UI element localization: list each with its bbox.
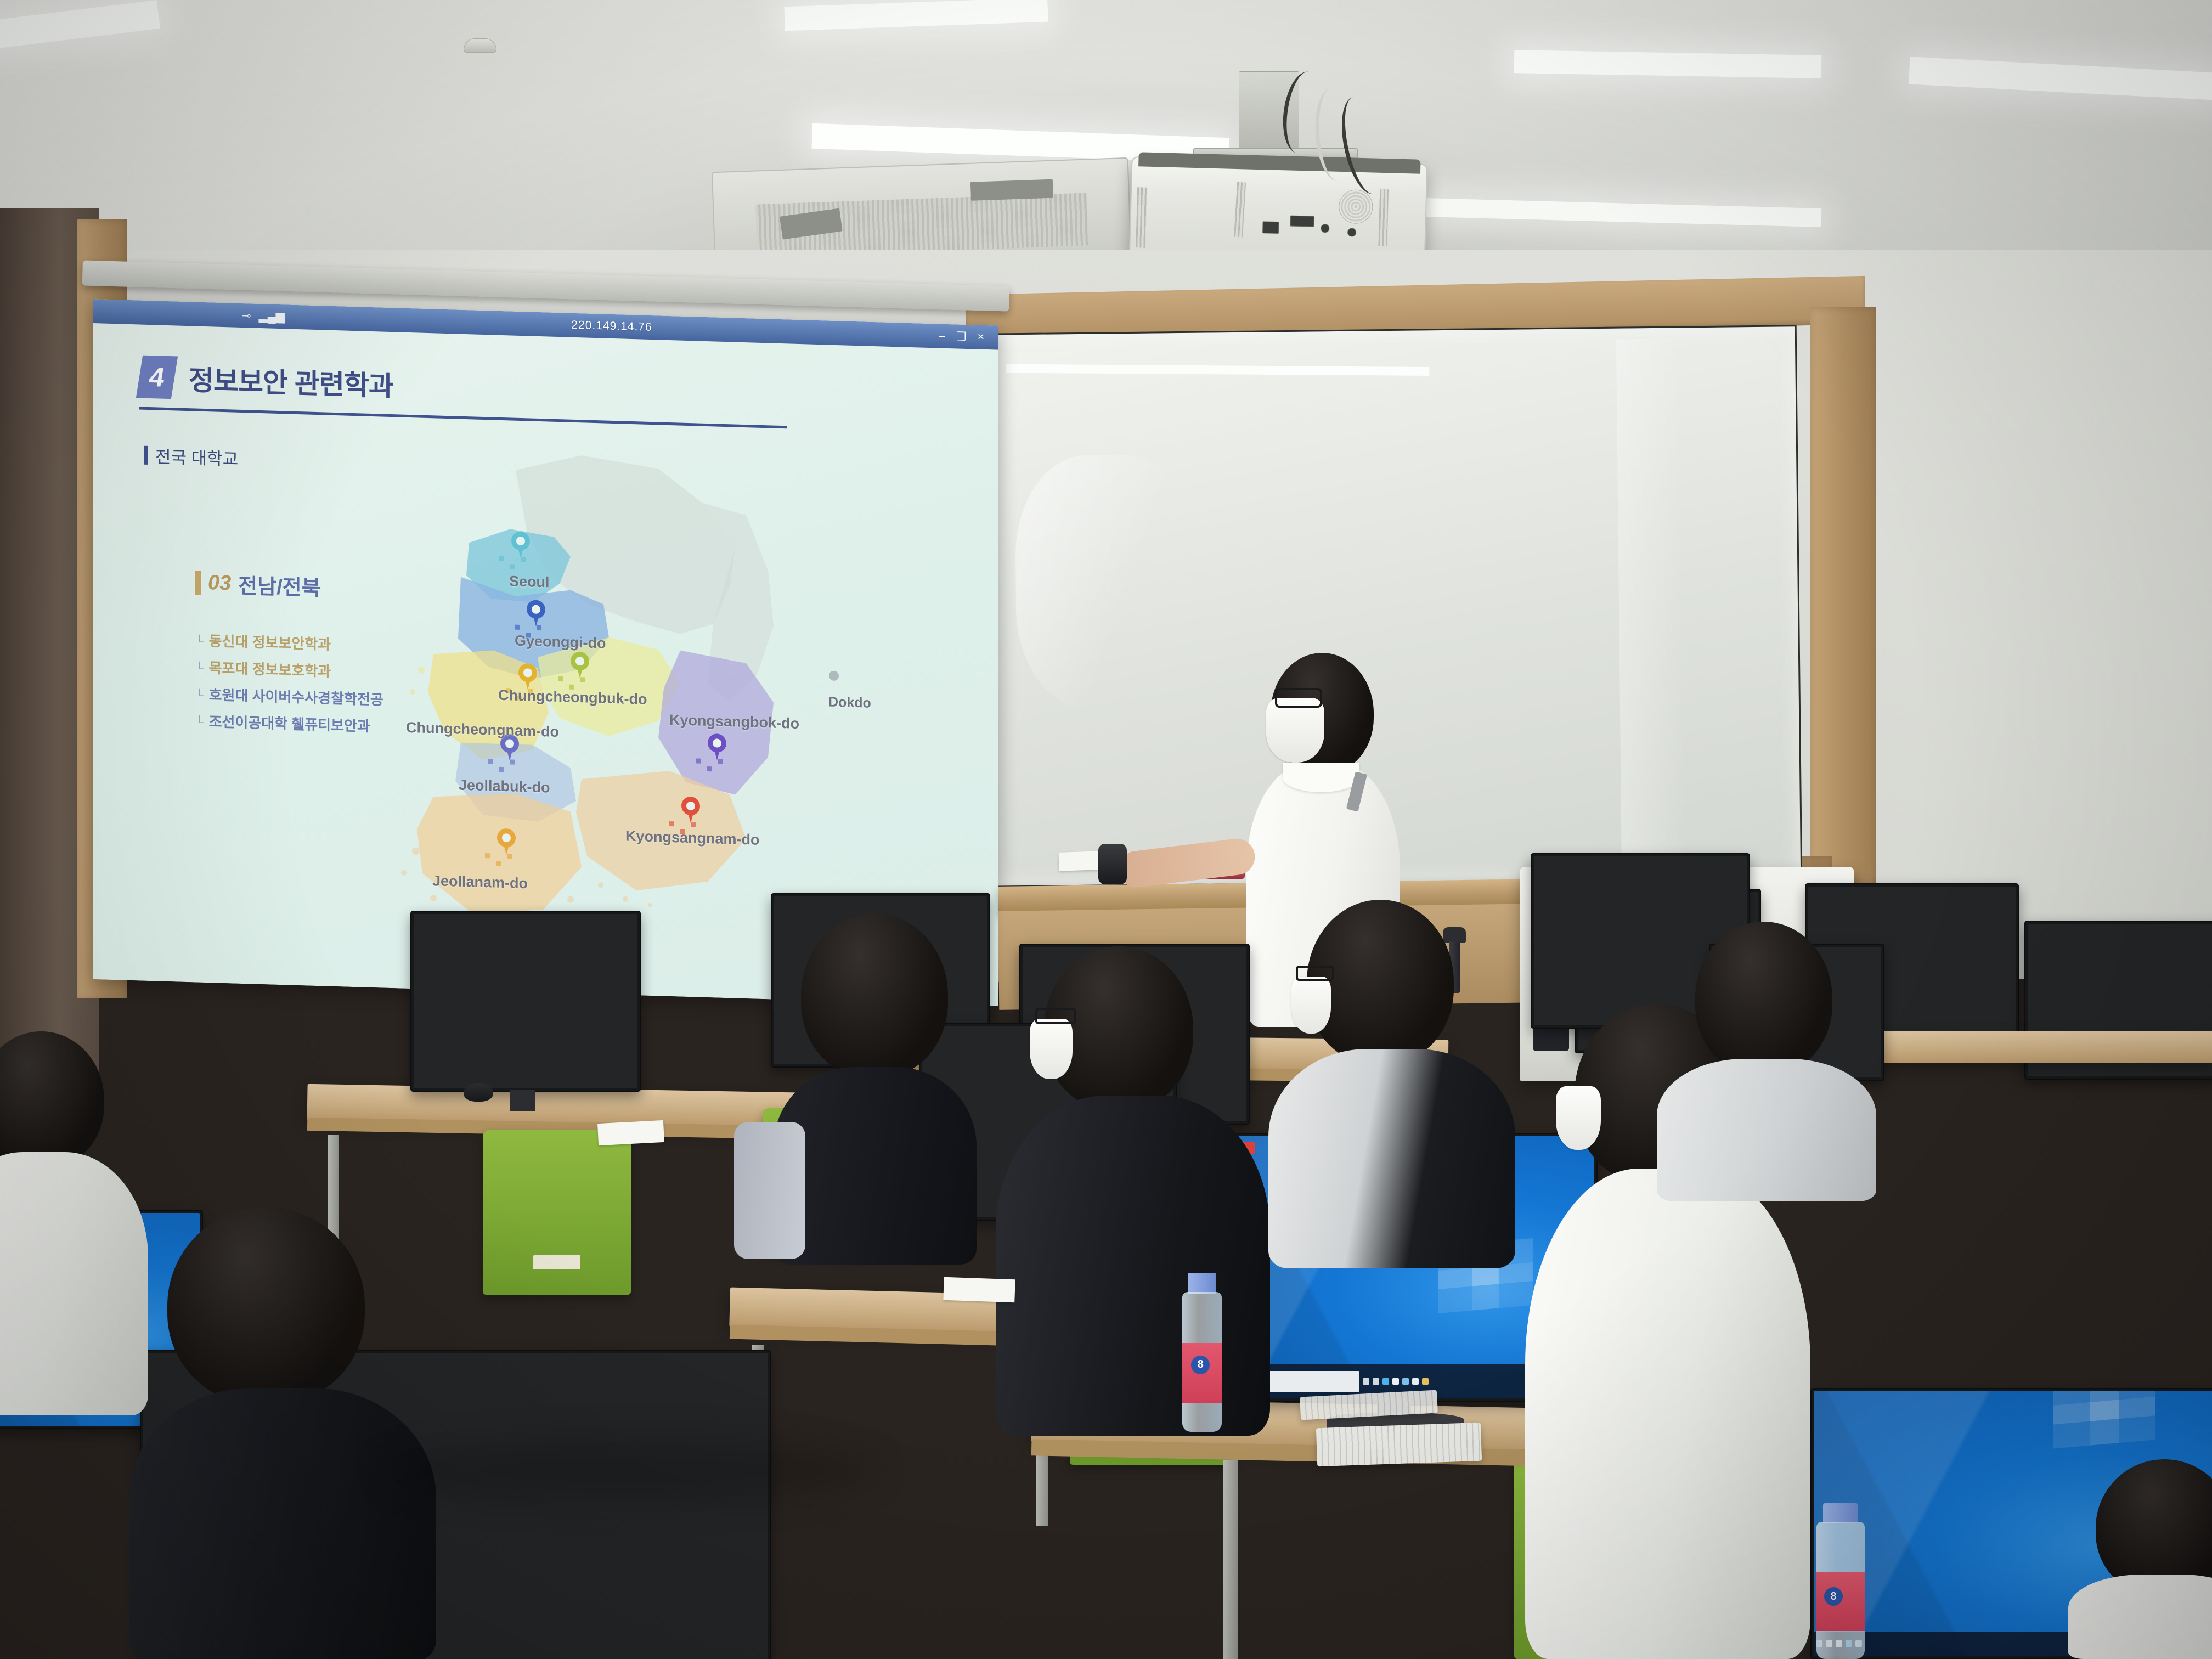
department-name: 동신대 정보보안학과 bbox=[209, 630, 331, 654]
subtitle-label: 전국 대학교 bbox=[155, 443, 238, 470]
pin-icon[interactable]: ⊸ bbox=[241, 308, 251, 323]
department-name: 목포대 정보보호학과 bbox=[209, 657, 331, 681]
map-pin-icon bbox=[681, 797, 700, 822]
projector-fan-grill bbox=[1339, 189, 1374, 224]
map-marker-dot bbox=[488, 759, 493, 764]
map-marker-dot bbox=[499, 767, 504, 772]
projector-usb-port bbox=[1347, 228, 1356, 236]
taskbar-icon[interactable] bbox=[1412, 1378, 1419, 1385]
map-pin-tail bbox=[503, 843, 510, 855]
student bbox=[2079, 1459, 2212, 1659]
presenter-glasses bbox=[1275, 688, 1322, 708]
taskbar-icon-explorer[interactable] bbox=[1422, 1378, 1429, 1385]
slide-number-badge: 4 bbox=[136, 356, 178, 399]
student-uniform-top bbox=[1268, 1049, 1515, 1268]
wall-wood-column bbox=[1810, 307, 1876, 933]
map-pin-icon bbox=[518, 663, 537, 689]
student-head bbox=[167, 1207, 365, 1404]
whiteboard-reflection bbox=[1014, 454, 1196, 709]
map-region-label: Gyeonggi-do bbox=[515, 633, 606, 652]
map-marker-dot bbox=[669, 821, 674, 826]
student-white-shirt bbox=[1525, 1169, 1810, 1659]
student-monitor bbox=[410, 911, 641, 1092]
map-marker-dot bbox=[691, 822, 696, 827]
map-marker-dot bbox=[496, 861, 501, 866]
map-marker-dot bbox=[718, 759, 723, 764]
classroom-scene: ⊸ ▂▄▆ 220.149.14.76 – ❐ × 4 정보보안 관련학과 bbox=[0, 0, 2212, 1659]
map-pin-icon bbox=[708, 733, 726, 759]
student bbox=[1012, 946, 1265, 1440]
student-monitor-screen bbox=[414, 914, 637, 1088]
student-face-mask bbox=[1556, 1086, 1601, 1150]
map-pin-icon bbox=[571, 652, 589, 678]
paper-sheet bbox=[943, 1277, 1015, 1303]
list-bullet-icon: └ bbox=[195, 688, 204, 702]
student bbox=[768, 913, 977, 1254]
taskbar-icon[interactable] bbox=[1392, 1378, 1399, 1385]
taskbar-icon[interactable] bbox=[1363, 1378, 1369, 1385]
title-divider bbox=[139, 407, 787, 428]
student bbox=[140, 1207, 425, 1659]
map-marker-dot bbox=[707, 766, 712, 771]
whiteboard-glare bbox=[1006, 364, 1429, 376]
region-name: 전남/전북 bbox=[238, 569, 320, 601]
slide-header: 4 정보보안 관련학과 bbox=[139, 355, 393, 405]
map-pin-tail bbox=[714, 748, 720, 760]
map-region-label: Jeollabuk-do bbox=[459, 777, 550, 797]
map-marker-dot bbox=[580, 677, 585, 682]
bottle-label-number: 8 bbox=[1191, 1356, 1210, 1374]
water-bottle[interactable]: 8 bbox=[1180, 1273, 1224, 1432]
signal-icon: ▂▄▆ bbox=[259, 309, 285, 323]
projector-vent bbox=[1136, 187, 1147, 247]
student-head bbox=[0, 1031, 104, 1169]
map-region-label: Jeollanam-do bbox=[432, 872, 528, 892]
map-region-label: Seoul bbox=[509, 573, 550, 591]
student bbox=[1284, 900, 1503, 1262]
student-head bbox=[1695, 922, 1832, 1075]
student-white-shirt bbox=[0, 1152, 148, 1415]
slide-subtitle: 전국 대학교 bbox=[144, 443, 238, 470]
map-marker-dot bbox=[515, 625, 520, 630]
map-pin-tail bbox=[533, 614, 539, 627]
close-icon[interactable]: × bbox=[978, 330, 984, 344]
paper-sheet bbox=[597, 1120, 664, 1145]
map-marker-dot bbox=[521, 557, 526, 562]
map-marker-dot bbox=[696, 758, 701, 763]
subtitle-accent-bar bbox=[144, 445, 148, 464]
presentation-remote[interactable] bbox=[1098, 844, 1127, 884]
region-number: 03 bbox=[208, 571, 231, 595]
chair[interactable] bbox=[483, 1130, 631, 1295]
student-uniform-top bbox=[1657, 1059, 1876, 1201]
chair-label bbox=[533, 1255, 580, 1269]
restore-icon[interactable]: ❐ bbox=[956, 330, 967, 344]
map-pin-tail bbox=[506, 748, 513, 760]
map-marker-dot bbox=[510, 759, 515, 764]
projector-vga-port bbox=[1290, 216, 1314, 227]
desk-leg bbox=[1223, 1460, 1238, 1659]
list-bullet-icon: └ bbox=[195, 661, 204, 675]
projector-audio-port bbox=[1321, 224, 1329, 233]
bottle-cap bbox=[1823, 1503, 1858, 1523]
minimize-icon[interactable]: – bbox=[939, 329, 945, 343]
map-pin-tail bbox=[517, 546, 524, 558]
student-uniform-top bbox=[2068, 1575, 2212, 1659]
mouse[interactable] bbox=[464, 1083, 493, 1102]
monitor-stand-neck bbox=[510, 1090, 535, 1111]
projector-hdmi-port bbox=[1262, 221, 1279, 234]
list-bullet-icon: └ bbox=[195, 715, 204, 729]
projector-vent bbox=[1234, 182, 1246, 238]
presenter-collar bbox=[1283, 763, 1359, 792]
student-dress-shirt-sleeve bbox=[734, 1122, 805, 1259]
map-marker-dot bbox=[485, 853, 490, 858]
map-region-label: Dokdo bbox=[828, 695, 871, 712]
student-hoodie bbox=[996, 1096, 1270, 1436]
list-bullet-icon: └ bbox=[195, 634, 204, 648]
student-face-mask bbox=[1030, 1019, 1073, 1079]
taskbar-icon-chrome[interactable] bbox=[1402, 1378, 1409, 1385]
map-pin-icon bbox=[511, 531, 530, 557]
page-title: 정보보안 관련학과 bbox=[189, 358, 393, 404]
ac-vane bbox=[970, 179, 1053, 201]
taskbar-icon-edge[interactable] bbox=[1383, 1378, 1389, 1385]
student-uniform-top bbox=[129, 1388, 436, 1659]
student bbox=[1673, 922, 1854, 1196]
student-glasses bbox=[1296, 966, 1334, 981]
student-glasses bbox=[1035, 1008, 1076, 1024]
map-marker-dot bbox=[507, 854, 512, 859]
region-accent-bar bbox=[195, 571, 201, 595]
map-marker-dot bbox=[510, 564, 515, 569]
map-pin-icon bbox=[497, 828, 516, 854]
map-pin-tail bbox=[577, 666, 583, 678]
map-pin-tail bbox=[687, 811, 694, 823]
student bbox=[0, 1031, 148, 1415]
whiteboard-reflection bbox=[1616, 339, 1686, 868]
bottle-cap bbox=[1188, 1273, 1216, 1294]
taskbar-icon[interactable] bbox=[1373, 1378, 1379, 1385]
floor-shadow bbox=[384, 1437, 878, 1503]
water-bottle[interactable]: 8 bbox=[1813, 1503, 1868, 1659]
smoke-detector-icon bbox=[464, 38, 496, 53]
map-pin-icon bbox=[527, 600, 545, 625]
student-face-mask bbox=[1291, 977, 1331, 1034]
student-head bbox=[801, 913, 948, 1078]
map-marker-dot bbox=[537, 625, 541, 630]
department-name: 조선이공대학 췔퓨티보안과 bbox=[209, 710, 370, 736]
map-marker-dot bbox=[558, 676, 563, 681]
keyboard[interactable] bbox=[1316, 1423, 1482, 1466]
projector-vent bbox=[1378, 189, 1389, 246]
map-marker-dot bbox=[499, 556, 504, 561]
